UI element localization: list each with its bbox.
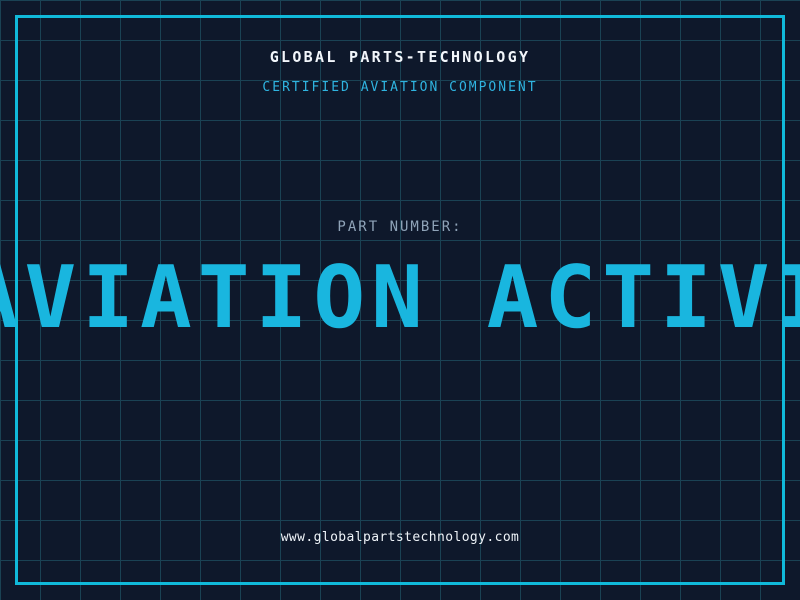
part-number-band: F AVIATION ACTIVITI bbox=[0, 252, 800, 344]
company-title: GLOBAL PARTS-TECHNOLOGY bbox=[0, 48, 800, 66]
card-content: GLOBAL PARTS-TECHNOLOGY CERTIFIED AVIATI… bbox=[0, 0, 800, 600]
certificate-card: GLOBAL PARTS-TECHNOLOGY CERTIFIED AVIATI… bbox=[0, 0, 800, 600]
certification-subtitle: CERTIFIED AVIATION COMPONENT bbox=[0, 80, 800, 95]
part-number-label: PART NUMBER: bbox=[0, 219, 800, 235]
website-url: www.globalpartstechnology.com bbox=[0, 530, 800, 545]
part-number-value: F AVIATION ACTIVITI bbox=[0, 255, 800, 341]
